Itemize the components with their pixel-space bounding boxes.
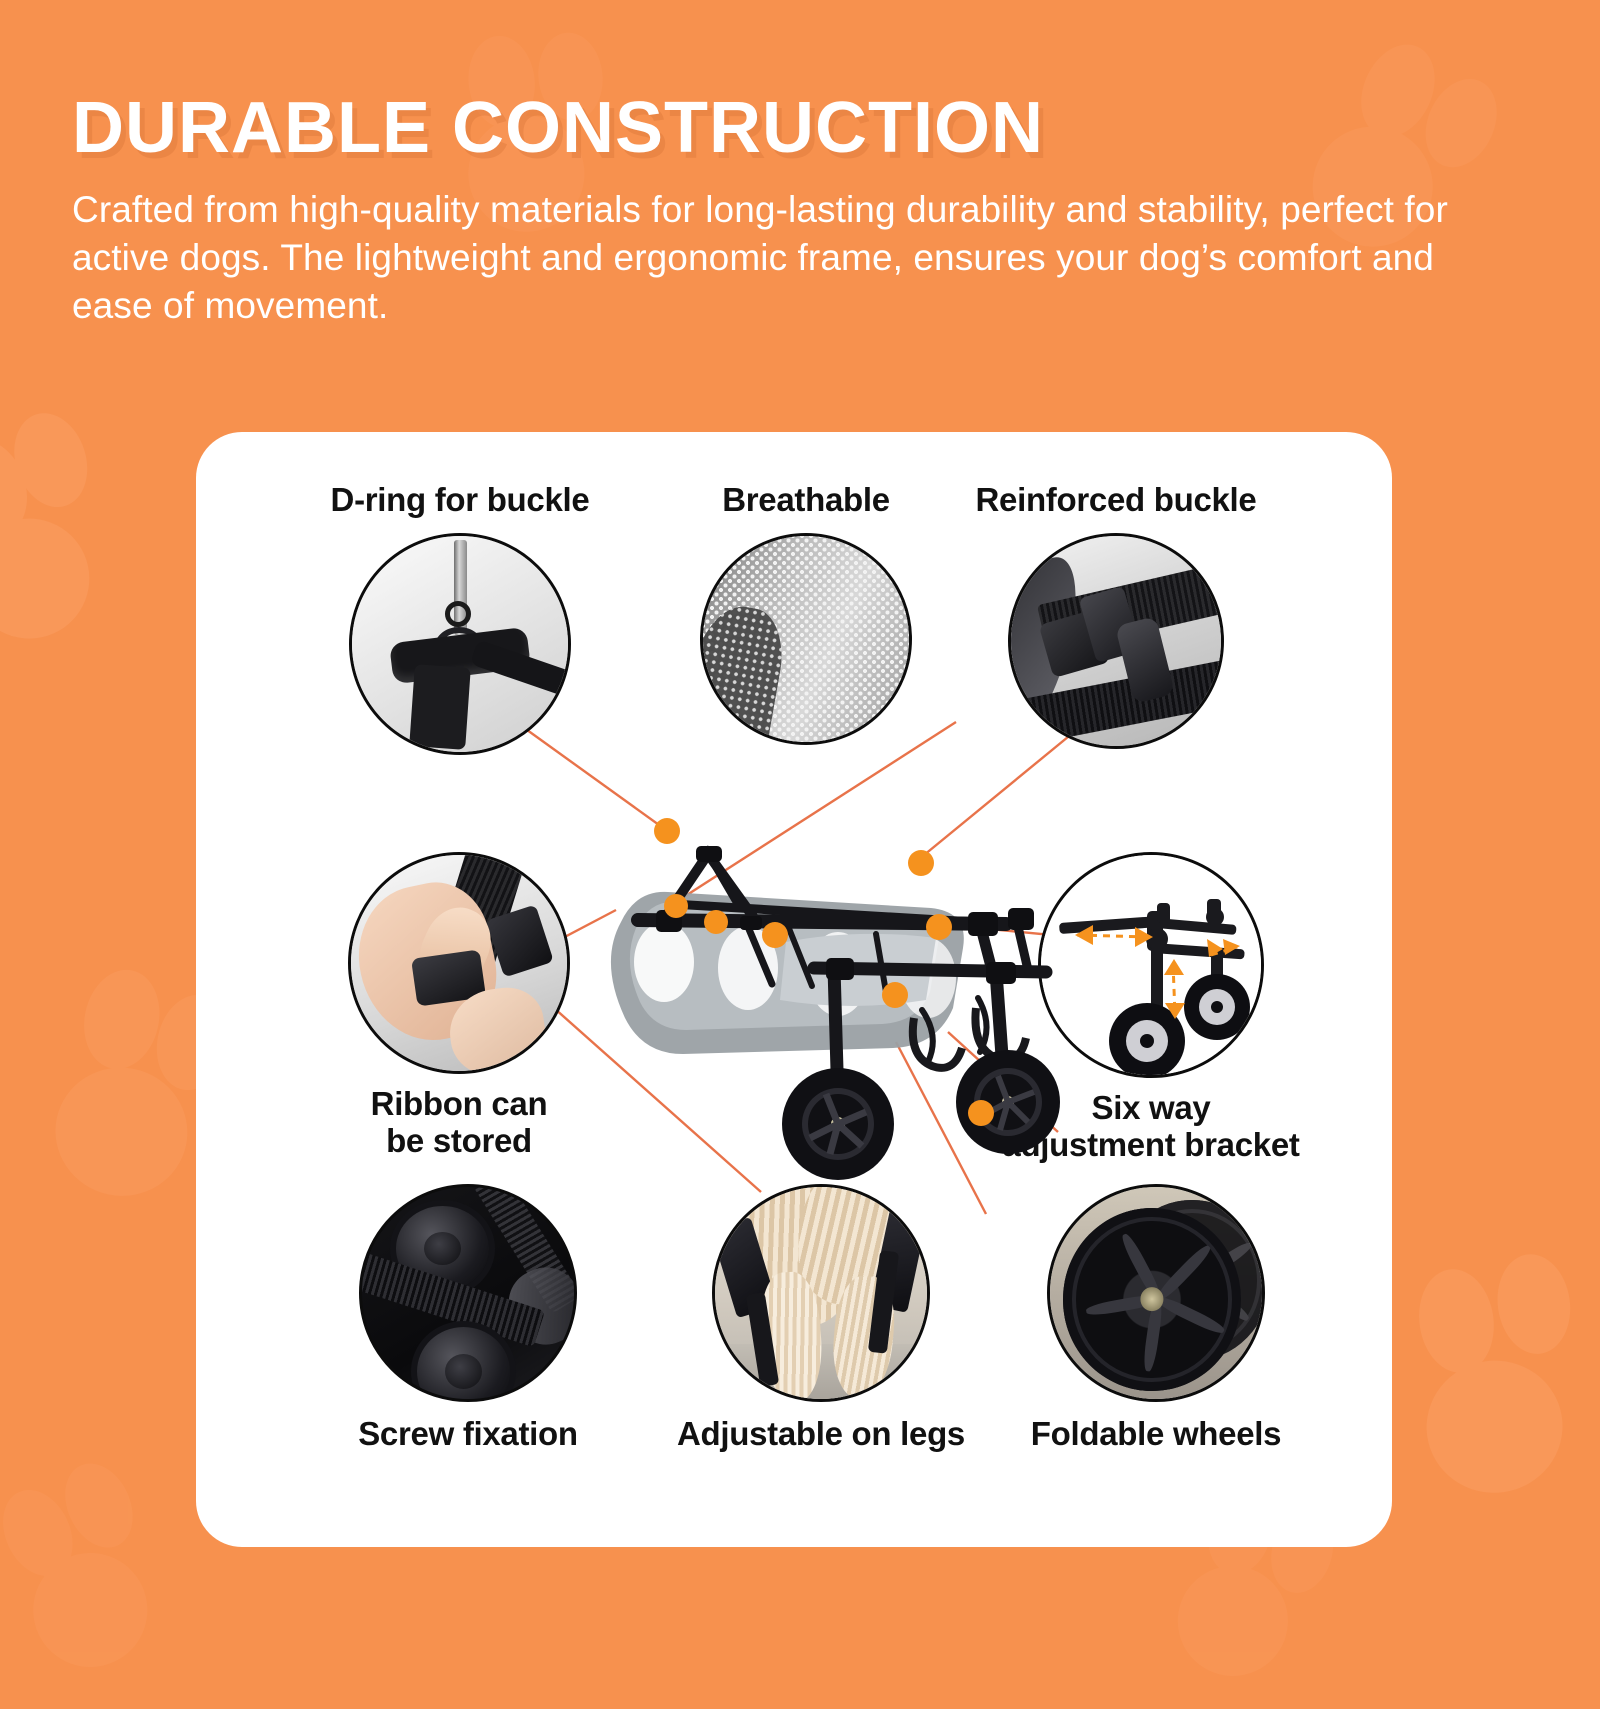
hotspot-sling-center[interactable] [762, 922, 788, 948]
feature-foldable-wheels[interactable]: Foldable wheels [1006, 1184, 1306, 1453]
feature-image-breathable [700, 533, 912, 745]
feature-label-d-ring: D-ring for buckle [300, 482, 620, 519]
feature-adjustable-legs[interactable]: Adjustable on legs [656, 1184, 986, 1453]
hotspot-foldable-wheels[interactable] [968, 1100, 994, 1126]
feature-breathable[interactable]: Breathable [666, 482, 946, 745]
hotspot-six-way-bracket[interactable] [926, 914, 952, 940]
header: DURABLE CONSTRUCTION Crafted from high-q… [72, 92, 1502, 330]
feature-d-ring[interactable]: D-ring for buckle [300, 482, 620, 755]
hotspot-d-ring[interactable] [654, 818, 680, 844]
feature-card: D-ring for buckle Breathable Reinforced … [196, 432, 1392, 1547]
feature-image-screw-fixation [359, 1184, 577, 1402]
feature-label-foldable-wheels: Foldable wheels [1006, 1416, 1306, 1453]
feature-image-d-ring [349, 533, 571, 755]
feature-label-reinforced-buckle: Reinforced buckle [946, 482, 1286, 519]
page-subtitle: Crafted from high-quality materials for … [72, 186, 1472, 330]
feature-label-ribbon-storage: Ribbon can be stored [304, 1086, 614, 1160]
feature-reinforced-buckle[interactable]: Reinforced buckle [946, 482, 1286, 749]
feature-screw-fixation[interactable]: Screw fixation [308, 1184, 628, 1453]
hotspot-breathable-mid[interactable] [704, 910, 728, 934]
page-title: DURABLE CONSTRUCTION [72, 92, 1502, 164]
feature-label-screw-fixation: Screw fixation [308, 1416, 628, 1453]
feature-label-breathable: Breathable [666, 482, 946, 519]
hotspot-breathable-front[interactable] [664, 894, 688, 918]
feature-image-reinforced-buckle [1008, 533, 1224, 749]
feature-ribbon-storage[interactable]: Ribbon can be stored [304, 852, 614, 1160]
hotspot-reinforced-buckle[interactable] [908, 850, 934, 876]
hotspot-adjustable-legs[interactable] [882, 982, 908, 1008]
feature-image-foldable-wheels [1047, 1184, 1265, 1402]
feature-image-adjustable-legs [712, 1184, 930, 1402]
feature-image-ribbon-storage [348, 852, 570, 1074]
feature-label-adjustable-legs: Adjustable on legs [656, 1416, 986, 1453]
